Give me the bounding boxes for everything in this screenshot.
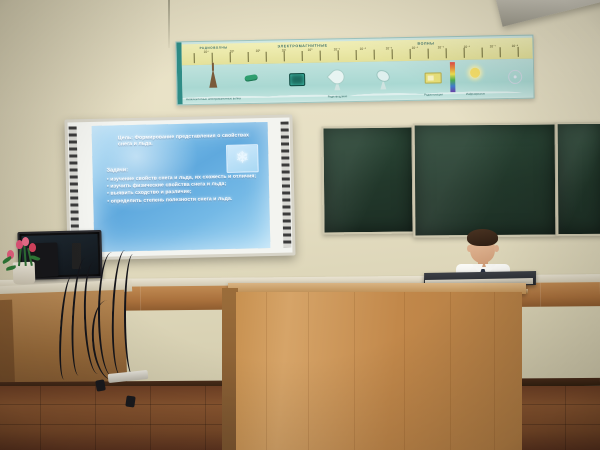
poster-tick-12: 10⁻⁸ xyxy=(512,44,519,48)
poster-tick-11: 10⁻⁷ xyxy=(490,44,496,48)
antenna-icon xyxy=(327,66,348,87)
chalkboard-panel-left xyxy=(321,126,414,235)
podium-front-panel xyxy=(236,292,522,450)
poster-caption-5: Инфракрасное xyxy=(466,92,485,96)
atom-icon xyxy=(508,70,522,84)
poster-tick-5: 10⁻¹ xyxy=(334,47,340,51)
poster-item-radar xyxy=(370,64,396,90)
visible-spectrum-strip xyxy=(450,62,456,92)
poster-tick-10: 10⁻⁶ xyxy=(464,45,471,49)
poster-tick-8: 10⁻⁴ xyxy=(412,46,419,50)
poster-heading-right: ВОЛНЫ xyxy=(417,41,434,45)
snowflake-image: ❄ xyxy=(226,144,259,173)
power-plug xyxy=(125,395,135,407)
poster-item-television xyxy=(286,66,308,92)
slide-tasks-heading: Задачи: xyxy=(107,167,129,174)
student-hair xyxy=(467,229,498,246)
poster-tick-3: 10¹ xyxy=(282,48,287,52)
poster-item-sun: Инфракрасное xyxy=(462,62,488,88)
tulip-flower xyxy=(29,243,36,252)
chalkboard-panel-right xyxy=(556,122,600,236)
poster-tick-1: 10³ xyxy=(230,49,235,53)
poster-heading-center: ЭЛЕКТРОМАГНИТНЫЕ xyxy=(277,43,327,48)
radar-dish-icon xyxy=(374,68,392,84)
poster-caption-0: Низкочастотные электромагнитные волны xyxy=(186,96,241,101)
poster-tick-9: 10⁻⁵ xyxy=(438,45,445,49)
poster-caption-1: Радиовещание xyxy=(328,94,348,98)
snowflake-icon: ❄ xyxy=(235,150,249,166)
poster-tick-4: 10⁰ xyxy=(308,48,313,52)
poster-tick-2: 10² xyxy=(256,49,261,53)
poster-item-device xyxy=(240,67,262,93)
classroom-scene: ЭЛЕКТРОМАГНИТНЫЕ РАДИОВОЛНЫ ВОЛНЫ 10⁴ 10… xyxy=(0,0,600,450)
poster-tick-7: 10⁻³ xyxy=(386,46,392,50)
handheld-device-icon xyxy=(244,74,258,82)
poster-illustration-band: Низкочастотные электромагнитные волны Ра… xyxy=(182,59,534,104)
microwave-icon xyxy=(425,72,442,83)
slide-tasks-list: • изучение свойств снега и льда, их схож… xyxy=(107,173,264,205)
poster-tick-6: 10⁻² xyxy=(360,47,366,51)
poster-tick-0: 10⁴ xyxy=(204,50,209,54)
projected-slide: Цель: Формирование представления о свойс… xyxy=(92,122,271,252)
electromagnetic-spectrum-poster: ЭЛЕКТРОМАГНИТНЫЕ РАДИОВОЛНЫ ВОЛНЫ 10⁴ 10… xyxy=(175,35,534,106)
chalkboard-panel-center xyxy=(413,122,558,237)
tulip-flower xyxy=(22,237,29,246)
poster-caption-3: Радиолокация xyxy=(424,92,443,96)
poster-item-xray xyxy=(502,62,528,88)
power-plug xyxy=(95,379,106,391)
poster-heading-left: РАДИОВОЛНЫ xyxy=(200,45,228,50)
poster-item-radio-tower: Низкочастотные электромагнитные волны xyxy=(200,67,226,93)
poster-item-microwave: Радиолокация xyxy=(420,63,446,89)
poster-item-broadcast: Радиовещание xyxy=(324,65,350,91)
radio-tower-icon xyxy=(209,69,217,88)
sun-icon xyxy=(470,68,480,78)
wall-seam xyxy=(168,0,170,48)
board-right-rail xyxy=(281,122,292,248)
television-icon xyxy=(289,73,305,86)
